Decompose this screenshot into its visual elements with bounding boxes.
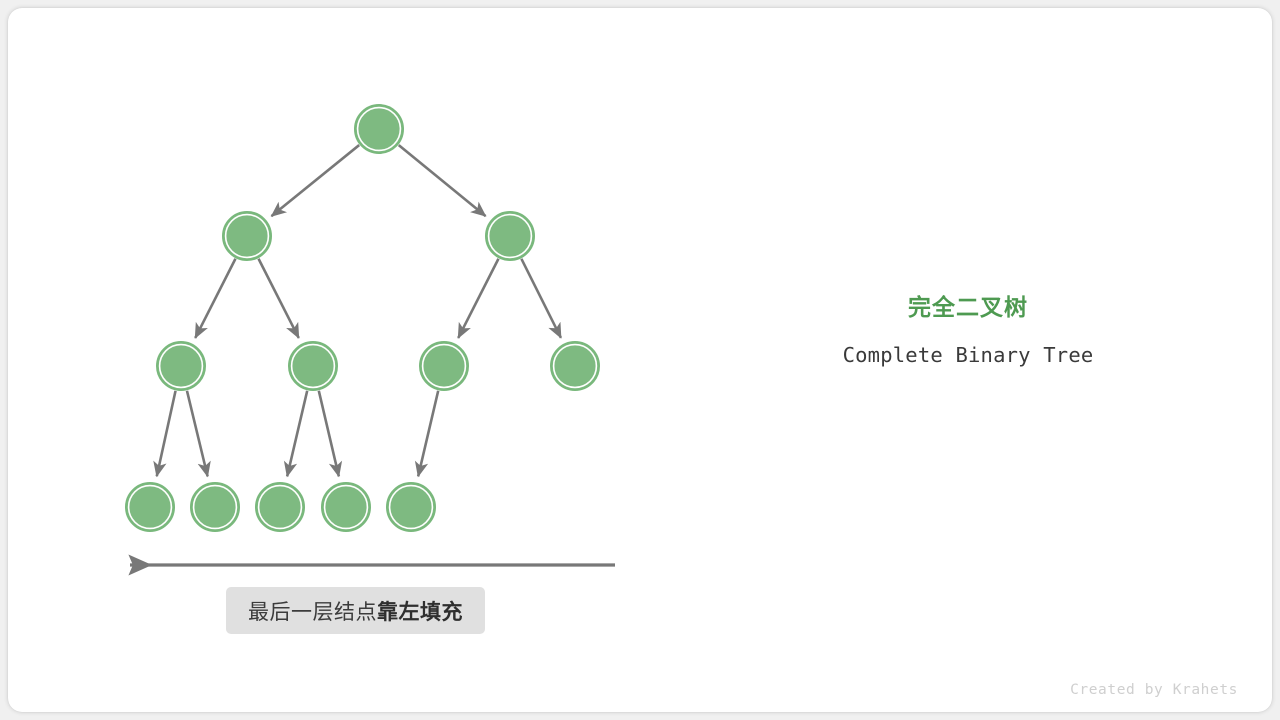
- tree-node: [486, 212, 534, 260]
- node-core: [555, 346, 595, 386]
- tree-edge: [458, 259, 498, 338]
- tree-nodes: [126, 105, 599, 531]
- tree-node: [126, 483, 174, 531]
- node-core: [391, 487, 431, 527]
- node-core: [424, 346, 464, 386]
- node-core: [326, 487, 366, 527]
- tree-edge: [399, 145, 486, 216]
- tree-edge: [287, 391, 307, 476]
- fill-direction-label: 最后一层结点靠左填充: [226, 587, 485, 634]
- tree-edge: [319, 391, 339, 476]
- node-core: [161, 346, 201, 386]
- tree-edge: [418, 391, 438, 476]
- tree-edge: [157, 391, 176, 476]
- credit-text: Created by Krahets: [1070, 682, 1238, 698]
- title-chinese: 完全二叉树: [768, 292, 1168, 322]
- tree-edge: [271, 145, 359, 216]
- tree-node: [256, 483, 304, 531]
- node-core: [293, 346, 333, 386]
- node-core: [227, 216, 267, 256]
- tree-node: [355, 105, 403, 153]
- tree-edge: [259, 259, 299, 338]
- tree-node: [191, 483, 239, 531]
- tree-node: [387, 483, 435, 531]
- node-core: [130, 487, 170, 527]
- tree-node: [157, 342, 205, 390]
- tree-node: [223, 212, 271, 260]
- tree-node: [289, 342, 337, 390]
- tree-node: [322, 483, 370, 531]
- tree-edges: [157, 145, 561, 476]
- tree-node: [420, 342, 468, 390]
- slide-canvas: 完全二叉树 Complete Binary Tree 最后一层结点靠左填充 Cr…: [0, 0, 1280, 720]
- node-core: [260, 487, 300, 527]
- tree-edge: [521, 259, 561, 338]
- node-core: [490, 216, 530, 256]
- tree-node: [551, 342, 599, 390]
- node-core: [359, 109, 399, 149]
- fill-label-emphasis: 靠左填充: [377, 596, 463, 626]
- tree-edge: [187, 391, 208, 477]
- tree-edge: [195, 259, 235, 338]
- node-core: [195, 487, 235, 527]
- title-english: Complete Binary Tree: [768, 342, 1168, 368]
- caption-block: 完全二叉树 Complete Binary Tree: [768, 292, 1168, 368]
- fill-label-prefix: 最后一层结点: [248, 596, 377, 626]
